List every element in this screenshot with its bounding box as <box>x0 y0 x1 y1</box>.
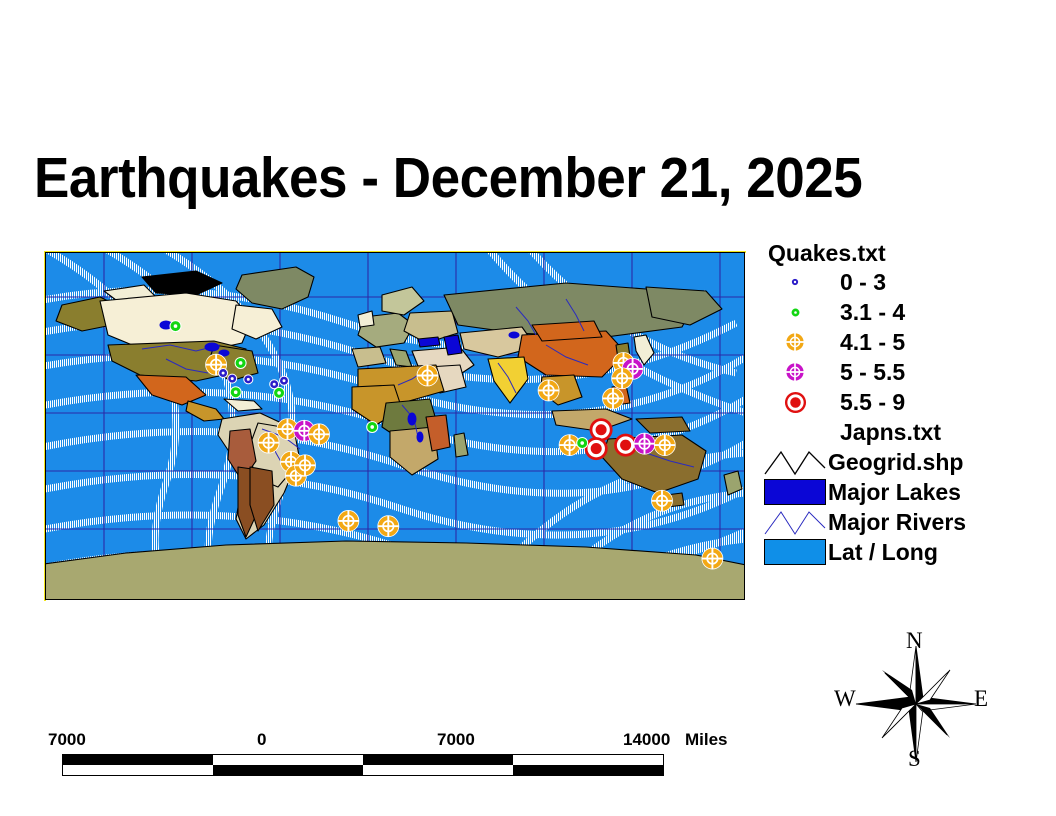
quake-marker-3-4[interactable] <box>170 321 181 332</box>
legend-row-4-5[interactable]: 4.1 - 5 <box>762 327 1056 357</box>
legend-header: Quakes.txt <box>762 240 1056 267</box>
quake-marker-3-4[interactable] <box>230 387 241 398</box>
legend-label-japns: Japns.txt <box>828 419 941 445</box>
legend-label-3-4: 3.1 - 4 <box>828 299 905 325</box>
scale-bar: 7000 0 7000 14000 Miles <box>45 730 745 776</box>
scale-bar-labels: 7000 0 7000 14000 Miles <box>45 730 745 752</box>
scale-label-0: 7000 <box>48 730 86 750</box>
quake-marker-5-55[interactable] <box>634 433 655 454</box>
quake-marker-0-3[interactable] <box>280 376 289 385</box>
scale-label-1: 0 <box>257 730 266 750</box>
page-title: Earthquakes - December 21, 2025 <box>34 142 862 214</box>
scale-label-2: 7000 <box>437 730 475 750</box>
scale-units: Miles <box>685 730 728 750</box>
land-mongolia <box>532 321 602 341</box>
quake-marker-4-5[interactable] <box>702 548 723 569</box>
quake-marker-4-5[interactable] <box>295 455 316 476</box>
quake-marker-0-3-icon <box>762 267 828 297</box>
legend-row-geogrid[interactable]: Geogrid.shp <box>762 447 1056 477</box>
scale-bar-row-bottom <box>63 765 663 775</box>
zigzag-line-icon <box>762 447 828 477</box>
legend-row-55-9[interactable]: 5.5 - 9 <box>762 387 1056 417</box>
compass-star-icon <box>826 624 1006 784</box>
quake-marker-3-4[interactable] <box>274 387 285 398</box>
legend-label-5-55: 5 - 5.5 <box>828 359 905 385</box>
scale-label-3: 14000 <box>623 730 670 750</box>
legend-row-3-4[interactable]: 3.1 - 4 <box>762 297 1056 327</box>
quake-marker-5-55-icon <box>762 357 828 387</box>
map-canvas[interactable] <box>46 253 745 600</box>
quake-marker-4-5[interactable] <box>309 424 330 445</box>
legend-label-major-lakes: Major Lakes <box>828 479 961 505</box>
zigzag-line-rivers-icon <box>762 507 828 537</box>
compass-rose: N S W E <box>826 624 1006 784</box>
legend-label-0-3: 0 - 3 <box>828 269 886 295</box>
quake-marker-4-5[interactable] <box>654 435 675 456</box>
legend-row-major-rivers[interactable]: Major Rivers <box>762 507 1056 537</box>
quake-marker-55-9-icon <box>762 387 828 417</box>
legend-row-major-lakes[interactable]: Major Lakes <box>762 477 1056 507</box>
quake-marker-3-4-icon <box>762 297 828 327</box>
legend-row-japns[interactable]: Japns.txt <box>762 417 1056 447</box>
lake-black-sea <box>418 337 440 347</box>
land-iberia <box>352 347 386 367</box>
legend-empty-symbol <box>762 417 828 447</box>
legend-row-5-55[interactable]: 5 - 5.5 <box>762 357 1056 387</box>
quake-marker-0-3[interactable] <box>228 374 237 383</box>
quake-marker-4-5[interactable] <box>417 365 438 386</box>
legend-row-lat-long[interactable]: Lat / Long <box>762 537 1056 567</box>
legend-row-0-3[interactable]: 0 - 3 <box>762 267 1056 297</box>
scale-bar-graphic <box>62 754 664 776</box>
quake-marker-3-4[interactable] <box>235 357 246 368</box>
legend-label-major-rivers: Major Rivers <box>828 509 966 535</box>
quake-marker-4-5[interactable] <box>603 388 624 409</box>
world-map[interactable] <box>45 252 745 600</box>
quake-marker-55-9[interactable] <box>585 437 608 460</box>
quake-marker-0-3[interactable] <box>219 369 228 378</box>
legend-label-lat-long: Lat / Long <box>828 539 938 565</box>
quake-marker-4-5[interactable] <box>338 510 359 531</box>
quake-marker-3-4[interactable] <box>577 438 588 449</box>
quake-marker-0-3[interactable] <box>244 375 253 384</box>
quake-marker-4-5-icon <box>762 327 828 357</box>
quake-marker-4-5[interactable] <box>652 490 673 511</box>
map-legend: Quakes.txt 0 - 3 3.1 - 4 4.1 - 5 <box>762 240 1056 567</box>
legend-label-55-9: 5.5 - 9 <box>828 389 905 415</box>
quake-marker-4-5[interactable] <box>612 368 633 389</box>
quake-marker-55-9[interactable] <box>614 434 637 457</box>
quake-marker-3-4[interactable] <box>367 422 378 433</box>
legend-label-4-5: 4.1 - 5 <box>828 329 905 355</box>
scale-bar-row-top <box>63 755 663 765</box>
legend-label-geogrid: Geogrid.shp <box>828 449 963 475</box>
fill-swatch-latlong-icon <box>762 537 828 567</box>
quake-marker-4-5[interactable] <box>258 432 279 453</box>
fill-swatch-lakes-icon <box>762 477 828 507</box>
quake-marker-4-5[interactable] <box>538 380 559 401</box>
quake-marker-4-5[interactable] <box>378 516 399 537</box>
